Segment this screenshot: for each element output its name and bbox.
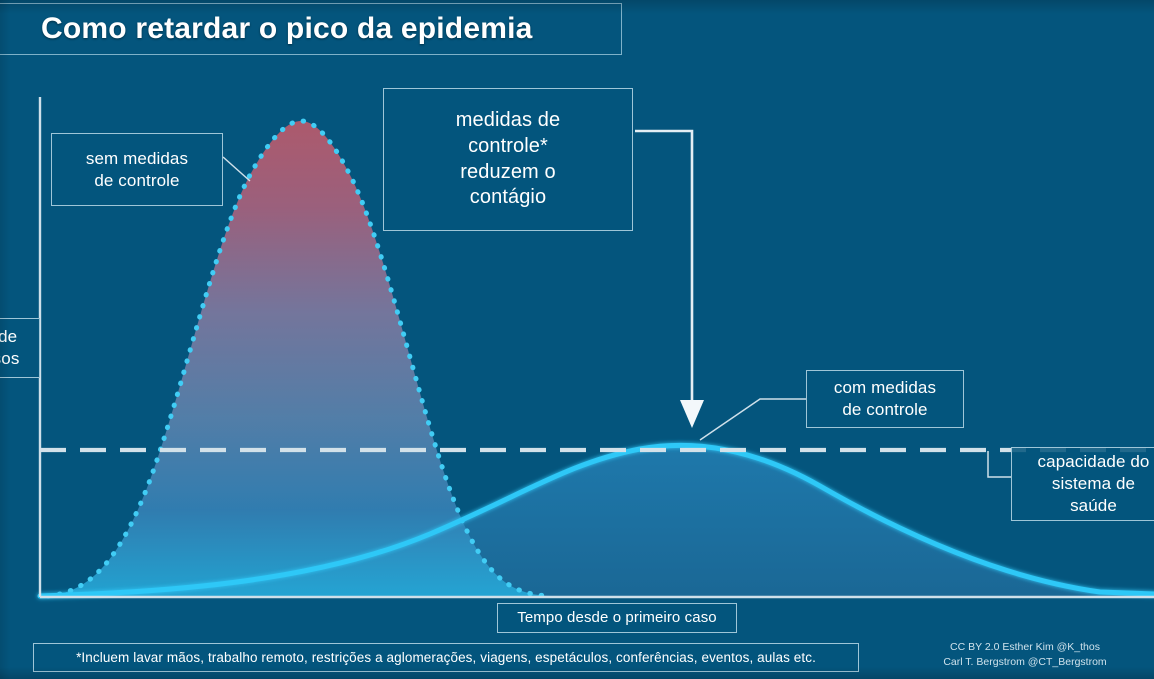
y-axis-label-box: n° de casos xyxy=(0,318,40,378)
callout-measures-reduce: medidas de controle* reduzem o contágio xyxy=(383,88,633,231)
leader-line-no-measures xyxy=(223,157,250,181)
x-axis-label: Tempo desde o primeiro caso xyxy=(517,608,716,627)
footnote-text: *Incluem lavar mãos, trabalho remoto, re… xyxy=(76,649,816,666)
leader-line-with-measures xyxy=(700,399,806,440)
callout-with-measures: com medidas de controle xyxy=(806,370,964,428)
callout-health-capacity: capacidade do sistema de saúde xyxy=(1011,447,1154,521)
y-axis-label: n° de casos xyxy=(0,326,19,370)
slide-canvas: Como retardar o pico da epidemia n° de c… xyxy=(0,0,1154,679)
callout-no-measures-label: sem medidas de controle xyxy=(86,148,188,192)
page-title: Como retardar o pico da epidemia xyxy=(41,10,533,48)
callout-no-measures: sem medidas de controle xyxy=(51,133,223,206)
footnote-box: *Incluem lavar mãos, trabalho remoto, re… xyxy=(33,643,859,672)
callout-measures-reduce-label: medidas de controle* reduzem o contágio xyxy=(456,108,560,210)
callout-health-capacity-label: capacidade do sistema de saúde xyxy=(1038,451,1150,516)
x-axis-label-box: Tempo desde o primeiro caso xyxy=(497,603,737,633)
callout-with-measures-label: com medidas de controle xyxy=(834,377,936,421)
slide-title-box: Como retardar o pico da epidemia xyxy=(0,3,622,55)
credits-text: CC BY 2.0 Esther Kim @K_thos Carl T. Ber… xyxy=(905,640,1145,670)
leader-line-capacity xyxy=(988,451,1011,477)
measures-effect-arrow xyxy=(635,131,704,428)
